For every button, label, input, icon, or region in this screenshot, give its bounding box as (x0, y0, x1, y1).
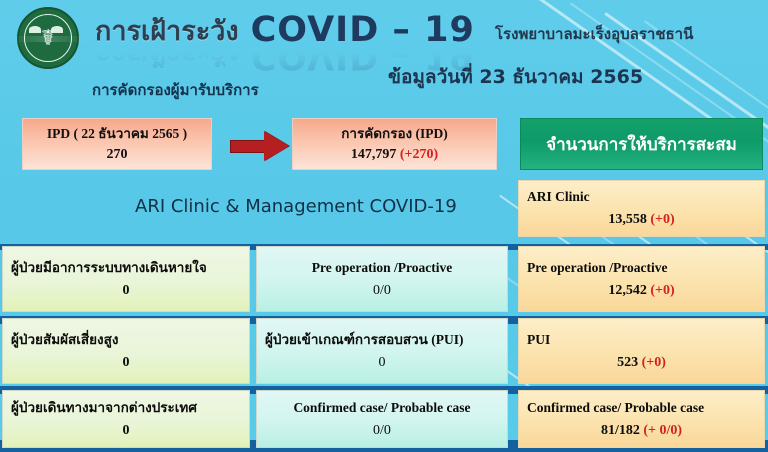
ipd-source-card: IPD ( 22 ธันวาคม 2565 ) 270 (22, 118, 212, 170)
ipd-screening-title: การคัดกรอง (IPD) (341, 125, 448, 142)
screening-section-label: การคัดกรองผู้มารับบริการ (92, 78, 259, 102)
card-value: 12,542 (+0) (527, 281, 756, 300)
ipd-screening-value: 147,797 (+270) (351, 145, 438, 164)
daily-card-confirmed-probable: Confirmed case/ Probable case 0/0 (256, 390, 508, 448)
title-covid: COVID – 19 (251, 10, 475, 50)
card-delta: (+0) (650, 283, 674, 298)
card-value: 0/0 (265, 281, 499, 300)
card-value: 81/182 (+ 0/0) (527, 421, 756, 440)
title-thai: การเฝ้าระวัง (95, 9, 239, 52)
ministry-of-public-health-seal-icon: ☤ (9, 6, 83, 70)
daily-card-pre-operation-proactive: Pre operation /Proactive 0/0 (256, 246, 508, 312)
daily-card-traveled-from-abroad: ผู้ป่วยเดินทางมาจากต่างประเทศ 0 (2, 390, 250, 448)
hospital-name: โรงพยาบาลมะเร็งอุบลราชธานี (495, 22, 693, 46)
accumulated-card-pui: PUI 523 (+0) (518, 318, 765, 384)
card-title: ผู้ป่วยเดินทางมาจากต่างประเทศ (11, 399, 241, 417)
data-date-label: ข้อมูลวันที่ 23 ธันวาคม 2565 (388, 62, 643, 92)
accumulated-card-ari-clinic: ARI Clinic 13,558 (+0) (518, 180, 765, 237)
daily-card-high-risk-contact: ผู้ป่วยสัมผัสเสี่ยงสูง 0 (2, 318, 250, 384)
ipd-screening-card: การคัดกรอง (IPD) 147,797 (+270) (292, 118, 497, 170)
page-title: การเฝ้าระวัง COVID – 19 (95, 4, 495, 56)
accumulated-card-confirmed-probable: Confirmed case/ Probable case 81/182 (+ … (518, 390, 765, 448)
card-title: Confirmed case/ Probable case (265, 399, 499, 417)
card-delta: (+0) (642, 355, 666, 370)
card-value: 0 (11, 421, 241, 440)
card-value: 0 (11, 353, 241, 372)
card-title: ผู้ป่วยเข้าเกณฑ์การสอบสวน (PUI) (265, 331, 499, 349)
card-value: 523 (+0) (527, 353, 756, 372)
card-title: PUI (527, 331, 756, 349)
card-value: 0 (265, 353, 499, 372)
daily-card-pui: ผู้ป่วยเข้าเกณฑ์การสอบสวน (PUI) 0 (256, 318, 508, 384)
section-title: ARI Clinic & Management COVID-19 (135, 196, 457, 217)
card-value: 0/0 (265, 421, 499, 440)
card-delta: (+0) (650, 212, 674, 227)
card-delta: (+ 0/0) (643, 423, 682, 438)
card-title: Pre operation /Proactive (265, 259, 499, 277)
card-title: ARI Clinic (527, 188, 756, 206)
right-arrow-icon (230, 131, 292, 161)
covid-surveillance-dashboard: ☤ การเฝ้าระวัง COVID – 19 การเฝ้าระวัง C… (0, 0, 768, 452)
page-header: ☤ การเฝ้าระวัง COVID – 19 การเฝ้าระวัง C… (0, 0, 768, 108)
card-title: Confirmed case/ Probable case (527, 399, 756, 417)
card-title: ผู้ป่วยสัมผัสเสี่ยงสูง (11, 331, 241, 349)
ipd-source-title: IPD ( 22 ธันวาคม 2565 ) (47, 125, 187, 142)
card-value: 13,558 (+0) (527, 210, 756, 229)
ipd-source-value: 270 (107, 145, 128, 164)
card-title: ผู้ป่วยมีอาการระบบทางเดินหายใจ (11, 259, 241, 277)
accumulated-header: จำนวนการให้บริการสะสม (520, 118, 763, 170)
card-value: 0 (11, 281, 241, 300)
ipd-screening-delta: (+270) (400, 147, 438, 162)
card-title: Pre operation /Proactive (527, 259, 756, 277)
accumulated-card-pre-operation-proactive: Pre operation /Proactive 12,542 (+0) (518, 246, 765, 312)
daily-card-respiratory-symptoms: ผู้ป่วยมีอาการระบบทางเดินหายใจ 0 (2, 246, 250, 312)
